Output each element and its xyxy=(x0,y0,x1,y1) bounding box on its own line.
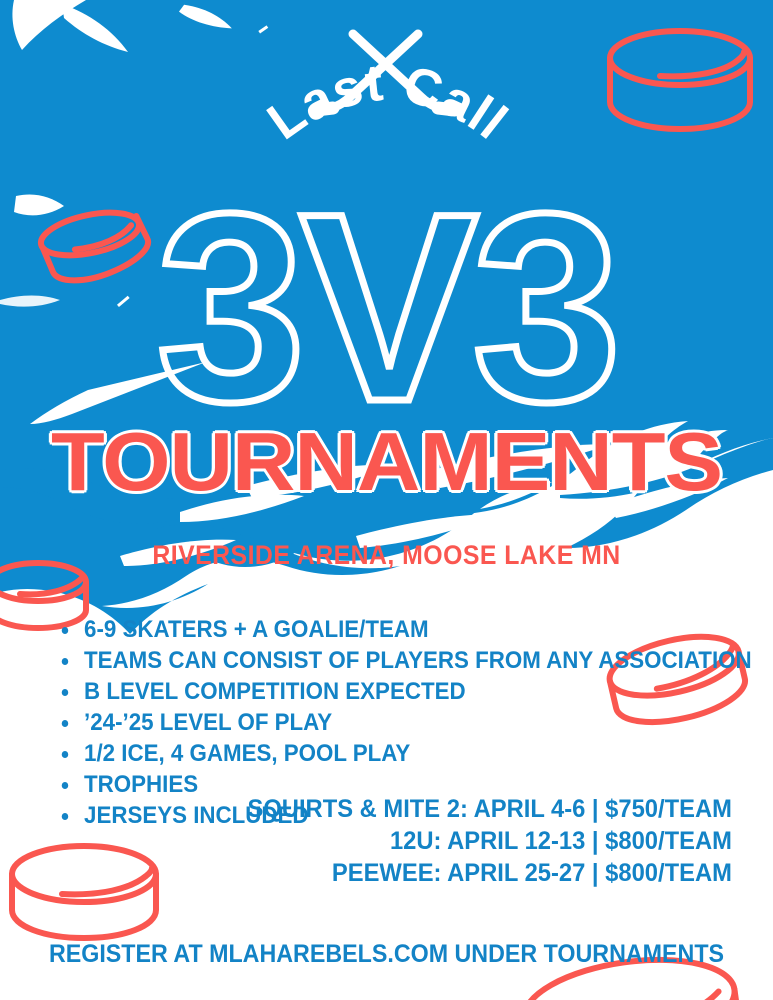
list-item: ’24-’25 LEVEL OF PLAY xyxy=(58,711,752,735)
list-item: B LEVEL COMPETITION EXPECTED xyxy=(58,680,752,704)
list-item: 1/2 ICE, 4 GAMES, POOL PLAY xyxy=(58,742,752,766)
register-line: REGISTER AT MLAHAREBELS.COM UNDER TOURNA… xyxy=(27,942,746,967)
price-line-peewee: PEEWEE: APRIL 25-27 | $800/TEAM xyxy=(248,857,732,889)
poster-canvas: Last Call 3V3 TOURNAMENTS RIVERSIDE AREN… xyxy=(0,0,773,1000)
puck-icon-upper-left-small xyxy=(37,205,153,287)
pricing-block: SQUIRTS & MITE 2: APRIL 4-6 | $750/TEAM … xyxy=(222,793,732,889)
puck-icon-bottom-left xyxy=(12,846,156,938)
price-line-squirts: SQUIRTS & MITE 2: APRIL 4-6 | $750/TEAM xyxy=(248,793,732,825)
list-item: TEAMS CAN CONSIST OF PLAYERS FROM ANY AS… xyxy=(58,649,752,673)
price-line-12u: 12U: APRIL 12-13 | $800/TEAM xyxy=(248,825,732,857)
puck-icon-top-right xyxy=(610,31,750,129)
list-item: 6-9 SKATERS + A GOALIE/TEAM xyxy=(58,618,752,642)
